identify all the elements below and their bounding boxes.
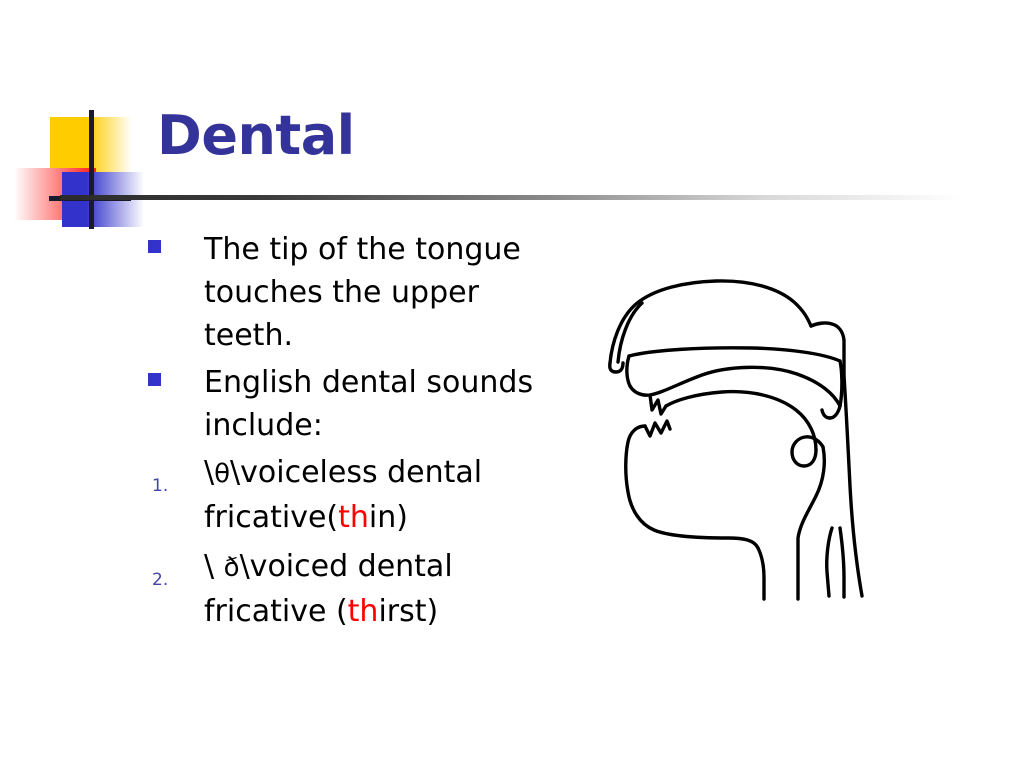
page-title: Dental: [157, 108, 355, 165]
motif-vertical-line: [89, 110, 94, 229]
slide-canvas: Dental The tip of the tongue touches the…: [0, 0, 1024, 768]
title-divider-rule: [60, 195, 962, 200]
ipa-prefix-2: \: [204, 549, 224, 584]
decorative-motif: [0, 100, 160, 240]
example-tail-1: in): [369, 500, 408, 535]
square-bullet-icon: [148, 240, 161, 253]
bullet-item-1-text: The tip of the tongue touches the upper …: [204, 232, 521, 353]
highlight-th-1: th: [338, 500, 369, 535]
numbered-item-2: 2. \ ð\voiced dental fricative (thirst): [138, 545, 568, 633]
highlight-th-2: th: [348, 594, 379, 629]
ipa-symbol-theta: θ: [214, 459, 230, 489]
ipa-symbol-eth: ð: [224, 553, 240, 583]
bullet-marker-square: [148, 361, 196, 404]
list-number-1: 1.: [152, 476, 168, 496]
body-content: The tip of the tongue touches the upper …: [138, 228, 568, 639]
list-number-2: 2.: [152, 570, 168, 590]
square-bullet-icon: [148, 373, 161, 386]
ipa-prefix-1: \: [204, 455, 214, 490]
example-tail-2: irst): [378, 594, 438, 629]
vocal-tract-diagram: [592, 266, 882, 611]
bullet-marker-square: [148, 228, 196, 271]
list-number-marker: 1.: [148, 451, 196, 499]
bullet-item-1: The tip of the tongue touches the upper …: [138, 228, 568, 357]
bullet-item-2: English dental sounds include:: [138, 361, 568, 447]
bullet-item-2-text: English dental sounds include:: [204, 365, 533, 443]
list-number-marker: 2.: [148, 545, 196, 593]
numbered-item-1: 1. \θ\voiceless dental fricative(thin): [138, 451, 568, 539]
